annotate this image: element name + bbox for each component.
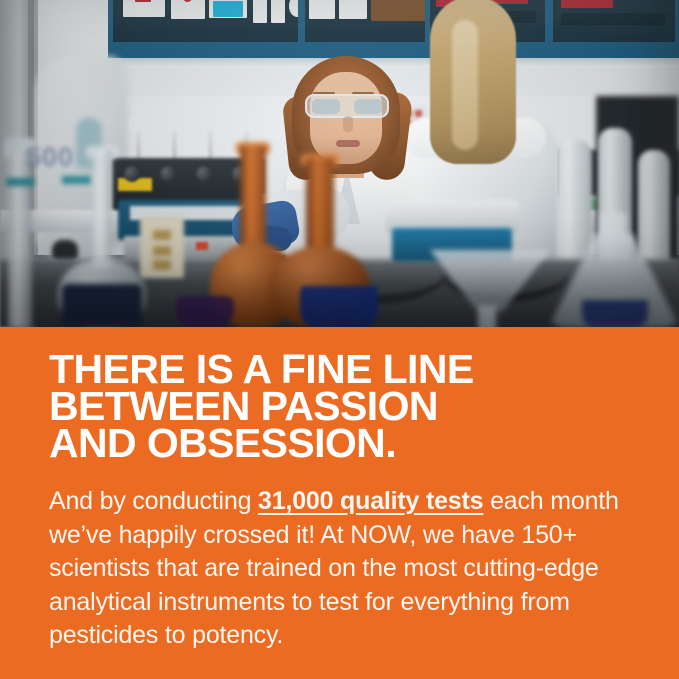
- flask-volume-label: 500: [26, 142, 96, 173]
- scientist-center-nose: [343, 116, 353, 132]
- headline: THERE IS A FINE LINE BETWEEN PASSION AND…: [49, 351, 649, 462]
- safety-goggles-icon: [305, 94, 389, 118]
- glass-funnel: [430, 226, 550, 326]
- cylinder-teal-band-1: [6, 178, 34, 186]
- cabinet-rail: [108, 42, 679, 58]
- laboratory-scientist-photo: 500: [0, 0, 679, 327]
- scientist-center-mouth: [336, 140, 360, 147]
- quality-tests-highlight: 31,000 quality tests: [258, 487, 483, 515]
- blue-liquid-beaker: [300, 286, 378, 327]
- blue-liquid-right: [582, 300, 648, 327]
- orange-message-panel: THERE IS A FINE LINE BETWEEN PASSION AND…: [0, 327, 679, 679]
- scientist-right-hair-highlight: [452, 20, 478, 150]
- cabinet-underside: [108, 58, 679, 67]
- advertisement-banner: 500 THERE IS A FINE LINE BETWEEN PASSION…: [0, 0, 679, 679]
- purple-liquid-beaker: [176, 296, 234, 327]
- volumetric-flask-500ml: [48, 150, 156, 327]
- body-copy-intro: And by conducting: [49, 487, 258, 515]
- instrument-knob-2: [160, 166, 176, 182]
- body-copy: And by conducting 31,000 quality tests e…: [49, 485, 639, 653]
